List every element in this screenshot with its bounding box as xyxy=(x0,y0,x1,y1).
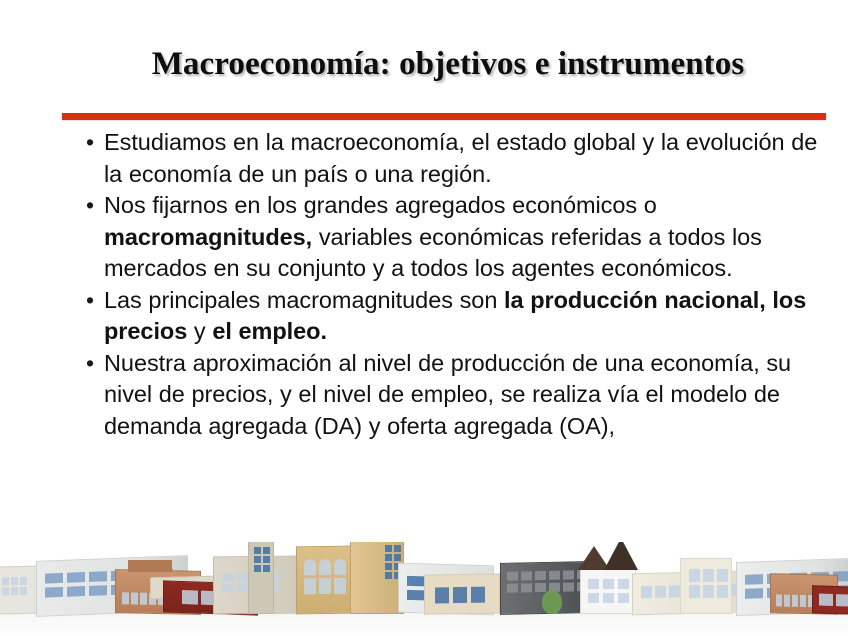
title-divider-rule xyxy=(62,113,826,120)
building-white-gabled-house xyxy=(580,568,636,614)
page-title: Macroeconomía: objetivos e instrumentos xyxy=(62,44,834,84)
bullet-segment-bold: macromagnitudes, xyxy=(104,224,312,250)
house-roof-right xyxy=(604,542,638,570)
list-item: • Nuestra aproximación al nivel de produ… xyxy=(70,348,830,443)
slide-canvas: Macroeconomía: objetivos e instrumentos … xyxy=(0,0,848,636)
bullet-segment: y xyxy=(187,318,212,344)
building-terracotta-chimneys xyxy=(128,560,172,572)
bullet-segment: Estudiamos en la macroeconomía, el estad… xyxy=(104,129,817,187)
building-beige-corner xyxy=(424,573,500,614)
bullet-segment: Nos fijarnos en los grandes agregados ec… xyxy=(104,192,657,218)
list-item: • Nos fijarnos en los grandes agregados … xyxy=(70,190,830,285)
bullet-text-4: Nuestra aproximación al nivel de producc… xyxy=(104,348,830,443)
building-cream-center-block xyxy=(680,558,732,614)
bullet-list: • Estudiamos en la macroeconomía, el est… xyxy=(70,127,830,442)
bullet-marker: • xyxy=(70,127,104,159)
list-item: • Estudiamos en la macroeconomía, el est… xyxy=(70,127,830,190)
building-tan-arched xyxy=(296,546,352,615)
bullet-marker: • xyxy=(70,285,104,317)
bullet-text-3: Las principales macromagnitudes son la p… xyxy=(104,285,830,348)
cityscape-image xyxy=(0,542,848,636)
bullet-text-2: Nos fijarnos en los grandes agregados ec… xyxy=(104,190,830,285)
bullet-text-1: Estudiamos en la macroeconomía, el estad… xyxy=(104,127,830,190)
bullet-marker: • xyxy=(70,348,104,380)
bullet-segment-bold: el empleo. xyxy=(212,318,327,344)
bullet-marker: • xyxy=(70,190,104,222)
building-tan-tower xyxy=(350,542,404,614)
tree-shrub xyxy=(542,590,562,614)
bullet-segment: Las principales macromagnitudes son xyxy=(104,287,504,313)
bullet-segment: Nuestra aproximación al nivel de producc… xyxy=(104,350,791,439)
building-stone-tower xyxy=(248,542,274,614)
list-item: • Las principales macromagnitudes son la… xyxy=(70,285,830,348)
building-dark-red-right xyxy=(812,585,848,615)
